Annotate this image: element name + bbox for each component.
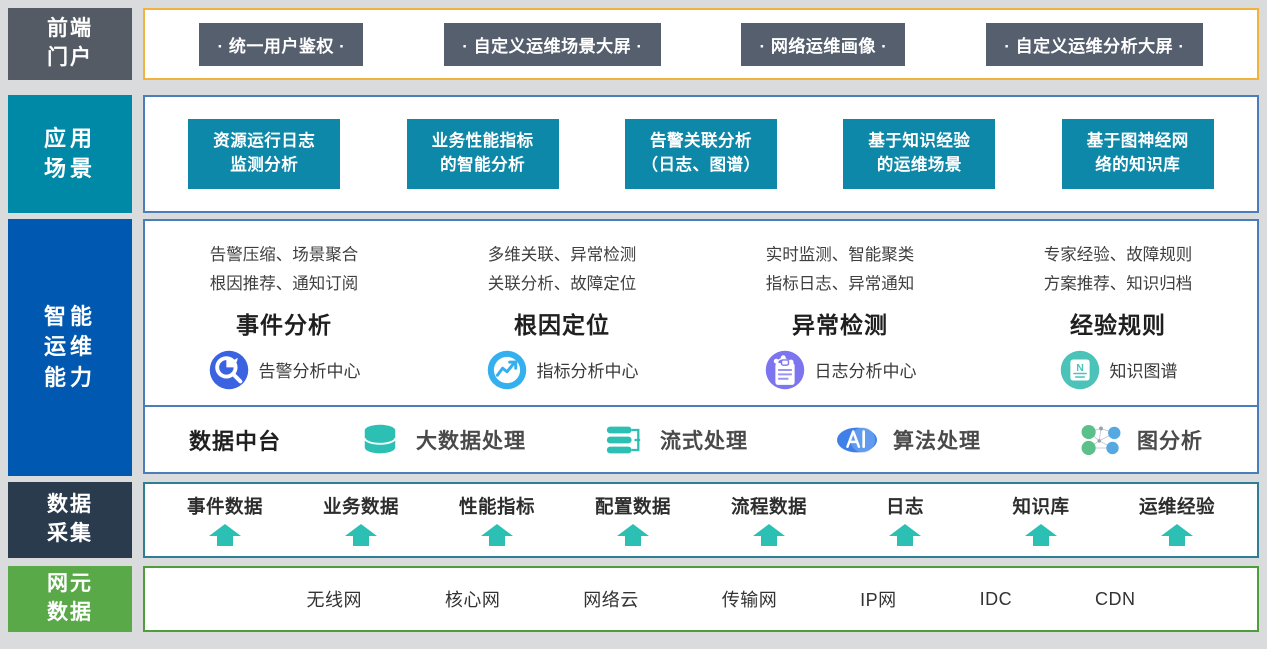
- ne-item-idc[interactable]: IDC: [980, 589, 1013, 610]
- scenario-line: 的智能分析: [421, 154, 545, 178]
- capability-subtitle: 实时监测、智能聚类: [766, 241, 915, 270]
- capability-product[interactable]: 告警分析中心: [208, 349, 361, 391]
- log-clipboard-icon: [764, 349, 806, 391]
- row-label-line: 采集: [47, 520, 93, 549]
- scenario-line: 基于知识经验: [857, 130, 981, 154]
- scenario-knowledge-experience-ops[interactable]: 基于知识经验 的运维场景: [843, 119, 995, 189]
- midplatform-item-label: 大数据处理: [416, 425, 526, 455]
- row-label-line: 场景: [44, 154, 96, 184]
- capability-experience-rules[interactable]: 专家经验、故障规则 方案推荐、知识归档 经验规则 N: [979, 221, 1257, 405]
- ne-item-wireless[interactable]: 无线网: [306, 586, 362, 612]
- capability-subtitle: 告警压缩、场景聚合: [210, 241, 359, 270]
- midplatform-item-label: 图分析: [1137, 425, 1203, 455]
- svg-text:N: N: [1076, 362, 1084, 374]
- ne-item-core-network[interactable]: 核心网: [445, 586, 501, 612]
- collect-item-label: 配置数据: [595, 493, 671, 519]
- ne-item-cdn[interactable]: CDN: [1095, 589, 1136, 610]
- collect-item-knowledge-base[interactable]: 知识库: [973, 484, 1109, 556]
- row-label-line: 网元: [47, 570, 93, 599]
- capability-subtitle: 多维关联、异常检测: [488, 241, 637, 270]
- collect-item-label: 知识库: [1012, 493, 1069, 519]
- alert-radar-icon: [208, 349, 250, 391]
- scenario-line: 络的知识库: [1076, 154, 1200, 178]
- portal-chip-network-ops-profile[interactable]: · 网络运维画像 ·: [741, 23, 905, 66]
- aiops-capability-panel: 告警压缩、场景聚合 根因推荐、通知订阅 事件分析 告警分析中心: [143, 219, 1259, 407]
- row-label-line: 门户: [47, 44, 93, 73]
- capability-anomaly-detection[interactable]: 实时监测、智能聚类 指标日志、异常通知 异常检测: [701, 221, 979, 405]
- row-application-scenarios: 应用 场景 资源运行日志 监测分析 业务性能指标 的智能分析 告警关联分析 （日…: [8, 95, 1259, 213]
- row-label-line: 智能: [44, 302, 96, 332]
- arrow-up-icon: [1024, 523, 1058, 547]
- metric-trend-icon: [486, 349, 528, 391]
- collect-item-process-data[interactable]: 流程数据: [701, 484, 837, 556]
- capability-product[interactable]: 日志分析中心: [764, 349, 917, 391]
- capability-title: 事件分析: [236, 306, 332, 340]
- collect-item-config-data[interactable]: 配置数据: [565, 484, 701, 556]
- ne-item-network-cloud[interactable]: 网络云: [583, 586, 639, 612]
- midplatform-item-label: 流式处理: [660, 425, 748, 455]
- ne-item-ip-network[interactable]: IP网: [860, 586, 897, 612]
- portal-chip-custom-ops-screen[interactable]: · 自定义运维场景大屏 ·: [444, 23, 660, 66]
- collect-item-performance-kpi[interactable]: 性能指标: [429, 484, 565, 556]
- capability-subtitle: 关联分析、故障定位: [488, 270, 637, 299]
- row-label-line: 应用: [44, 124, 96, 154]
- scenario-line: （日志、图谱）: [639, 154, 763, 178]
- capability-product[interactable]: N 知识图谱: [1059, 349, 1178, 391]
- row-label-line: 能力: [44, 363, 96, 393]
- row-label-line: 运维: [44, 332, 96, 362]
- row-data-collection: 数据 采集 事件数据 业务数据 性能指标 配置数据 流程数据: [8, 482, 1259, 558]
- capability-title: 根因定位: [514, 306, 610, 340]
- scenario-gnn-knowledge-base[interactable]: 基于图神经网 络的知识库: [1062, 119, 1214, 189]
- collect-item-label: 运维经验: [1139, 493, 1215, 519]
- network-element-panel: 无线网 核心网 网络云 传输网 IP网 IDC CDN: [143, 566, 1259, 632]
- collect-item-label: 性能指标: [459, 493, 535, 519]
- graph-network-icon: [1078, 420, 1124, 460]
- aiops-right-column: 告警压缩、场景聚合 根因推荐、通知订阅 事件分析 告警分析中心: [143, 219, 1259, 476]
- arrow-up-icon: [888, 523, 922, 547]
- scenario-line: 的运维场景: [857, 154, 981, 178]
- portal-chip-custom-analysis-screen[interactable]: · 自定义运维分析大屏 ·: [986, 23, 1202, 66]
- capability-product[interactable]: 指标分析中心: [486, 349, 639, 391]
- ne-item-transport[interactable]: 传输网: [722, 586, 778, 612]
- collect-item-business-data[interactable]: 业务数据: [293, 484, 429, 556]
- scenario-resource-log-monitor[interactable]: 资源运行日志 监测分析: [188, 119, 340, 189]
- capability-title: 经验规则: [1070, 306, 1166, 340]
- row-network-element-data: 网元 数据 无线网 核心网 网络云 传输网 IP网 IDC CDN: [8, 566, 1259, 632]
- scenario-line: 基于图神经网: [1076, 130, 1200, 154]
- row-label-line: 数据: [47, 491, 93, 520]
- capability-subtitle: 专家经验、故障规则: [1044, 241, 1193, 270]
- scenario-business-kpi-ai[interactable]: 业务性能指标 的智能分析: [407, 119, 559, 189]
- arrow-up-icon: [208, 523, 242, 547]
- collect-item-label: 日志: [886, 493, 924, 519]
- scenario-line: 告警关联分析: [639, 130, 763, 154]
- arrow-up-icon: [1160, 523, 1194, 547]
- collect-item-ops-experience[interactable]: 运维经验: [1109, 484, 1245, 556]
- capability-subtitle: 方案推荐、知识归档: [1044, 270, 1193, 299]
- capability-product-label: 指标分析中心: [537, 357, 639, 382]
- midplatform-item-streaming[interactable]: 流式处理: [558, 420, 791, 460]
- midplatform-item-graph-analysis[interactable]: 图分析: [1024, 420, 1257, 460]
- capability-event-analysis[interactable]: 告警压缩、场景聚合 根因推荐、通知订阅 事件分析 告警分析中心: [145, 221, 423, 405]
- arrow-up-icon: [752, 523, 786, 547]
- scenario-alarm-correlation[interactable]: 告警关联分析 （日志、图谱）: [625, 119, 777, 189]
- data-midplatform-panel: 数据中台 大数据处理: [143, 407, 1259, 474]
- data-midplatform-title: 数据中台: [145, 424, 325, 456]
- stream-icon: [601, 420, 647, 460]
- scenario-line: 业务性能指标: [421, 130, 545, 154]
- capability-product-label: 日志分析中心: [815, 357, 917, 382]
- row-front-portal: 前端 门户 · 统一用户鉴权 · · 自定义运维场景大屏 · · 网络运维画像 …: [8, 8, 1259, 80]
- collect-item-logs[interactable]: 日志: [837, 484, 973, 556]
- collect-item-event-data[interactable]: 事件数据: [157, 484, 293, 556]
- scenario-line: 资源运行日志: [202, 130, 326, 154]
- midplatform-item-algorithm[interactable]: 算法处理: [791, 420, 1024, 460]
- row-label-line: 前端: [47, 15, 93, 44]
- collect-item-label: 事件数据: [187, 493, 263, 519]
- row-label-network-element-data: 网元 数据: [8, 566, 132, 632]
- collect-item-label: 流程数据: [731, 493, 807, 519]
- portal-chip-unified-auth[interactable]: · 统一用户鉴权 ·: [199, 23, 363, 66]
- database-icon: [357, 420, 403, 460]
- row-label-application-scenarios: 应用 场景: [8, 95, 132, 213]
- capability-product-label: 告警分析中心: [259, 357, 361, 382]
- row-label-data-collection: 数据 采集: [8, 482, 132, 558]
- arrow-up-icon: [616, 523, 650, 547]
- data-collection-panel: 事件数据 业务数据 性能指标 配置数据 流程数据 日志: [143, 482, 1259, 558]
- capability-root-cause-location[interactable]: 多维关联、异常检测 关联分析、故障定位 根因定位 指标分析中心: [423, 221, 701, 405]
- application-scenarios-panel: 资源运行日志 监测分析 业务性能指标 的智能分析 告警关联分析 （日志、图谱） …: [143, 95, 1259, 213]
- collect-item-label: 业务数据: [323, 493, 399, 519]
- midplatform-item-bigdata[interactable]: 大数据处理: [325, 420, 558, 460]
- row-label-line: 数据: [47, 599, 93, 628]
- architecture-diagram: 前端 门户 · 统一用户鉴权 · · 自定义运维场景大屏 · · 网络运维画像 …: [0, 0, 1267, 649]
- arrow-up-icon: [480, 523, 514, 547]
- capability-subtitle: 根因推荐、通知订阅: [210, 270, 359, 299]
- row-label-front-portal: 前端 门户: [8, 8, 132, 80]
- capability-product-label: 知识图谱: [1110, 357, 1178, 382]
- front-portal-panel: · 统一用户鉴权 · · 自定义运维场景大屏 · · 网络运维画像 · · 自定…: [143, 8, 1259, 80]
- knowledge-book-icon: N: [1059, 349, 1101, 391]
- capability-subtitle: 指标日志、异常通知: [766, 270, 915, 299]
- row-aiops-capability: 智能 运维 能力 告警压缩、场景聚合 根因推荐、通知订阅 事件分析: [8, 219, 1259, 476]
- ai-icon: [834, 420, 880, 460]
- midplatform-item-label: 算法处理: [893, 425, 981, 455]
- capability-title: 异常检测: [792, 306, 888, 340]
- scenario-line: 监测分析: [202, 154, 326, 178]
- row-label-aiops-capability: 智能 运维 能力: [8, 219, 132, 476]
- arrow-up-icon: [344, 523, 378, 547]
